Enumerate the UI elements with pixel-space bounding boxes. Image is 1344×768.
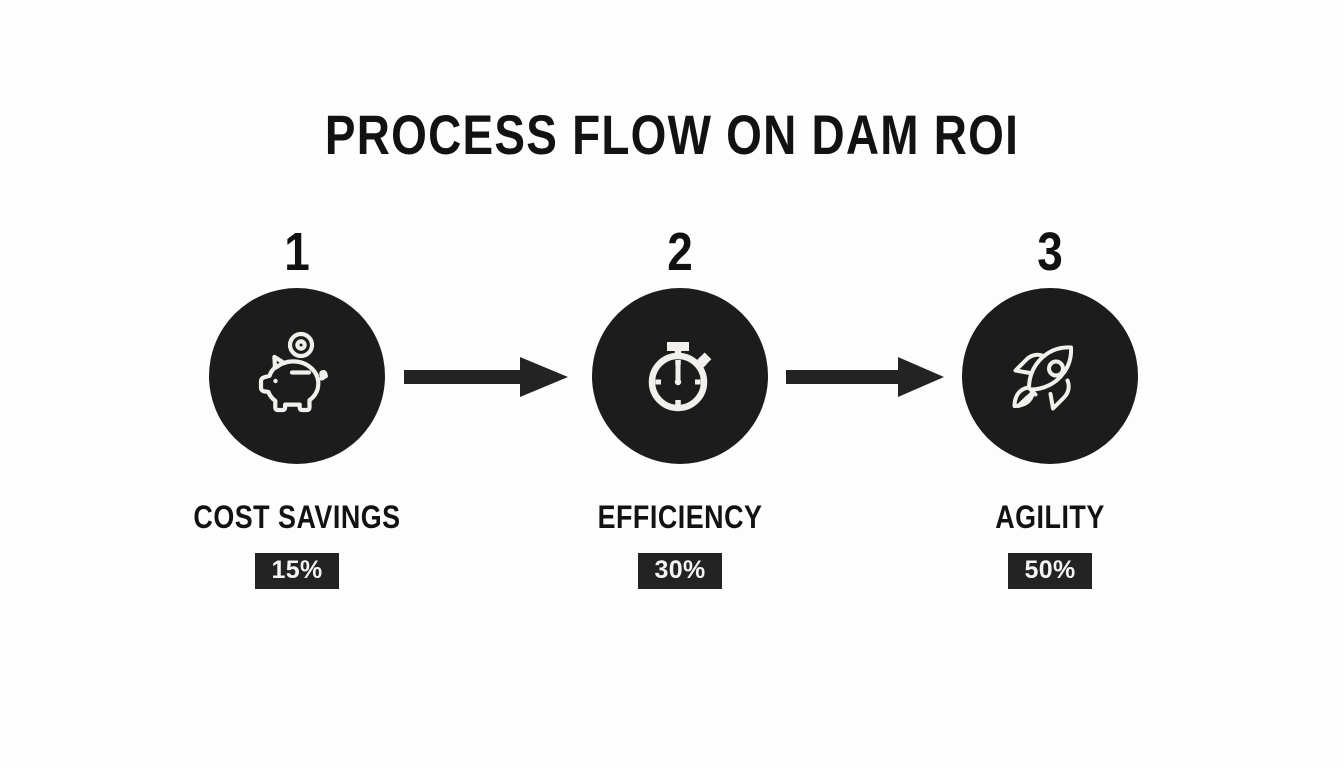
infographic-canvas: PROCESS FLOW ON DAM ROI 1 xyxy=(0,0,1344,768)
step-label: AGILITY xyxy=(924,501,1176,533)
connector-arrow-1 xyxy=(404,357,568,397)
step-number: 2 xyxy=(553,225,808,281)
stopwatch-icon xyxy=(628,324,732,428)
rocket-icon xyxy=(998,324,1102,428)
step-icon-circle xyxy=(592,288,768,464)
step-number: 3 xyxy=(923,225,1178,281)
process-flow-steps: 1 xyxy=(0,225,1344,625)
piggy-bank-icon xyxy=(245,324,349,428)
step-icon-circle xyxy=(209,288,385,464)
status-badge: 15% xyxy=(255,553,340,589)
process-step-1: 1 xyxy=(147,225,447,589)
step-icon-circle xyxy=(962,288,1138,464)
arrow-right-icon xyxy=(786,357,944,397)
status-badge: 50% xyxy=(1008,553,1093,589)
status-badge: 30% xyxy=(638,553,723,589)
process-step-3: 3 xyxy=(900,225,1200,589)
arrow-right-icon xyxy=(404,357,568,397)
page-title: PROCESS FLOW ON DAM ROI xyxy=(121,106,1223,164)
step-badge-wrap: 30% xyxy=(530,553,830,589)
step-badge-wrap: 50% xyxy=(900,553,1200,589)
step-number: 1 xyxy=(170,225,425,281)
step-label: EFFICIENCY xyxy=(554,501,806,533)
step-label: COST SAVINGS xyxy=(171,501,423,533)
process-step-2: 2 xyxy=(530,225,830,589)
step-badge-wrap: 15% xyxy=(147,553,447,589)
connector-arrow-2 xyxy=(786,357,944,397)
